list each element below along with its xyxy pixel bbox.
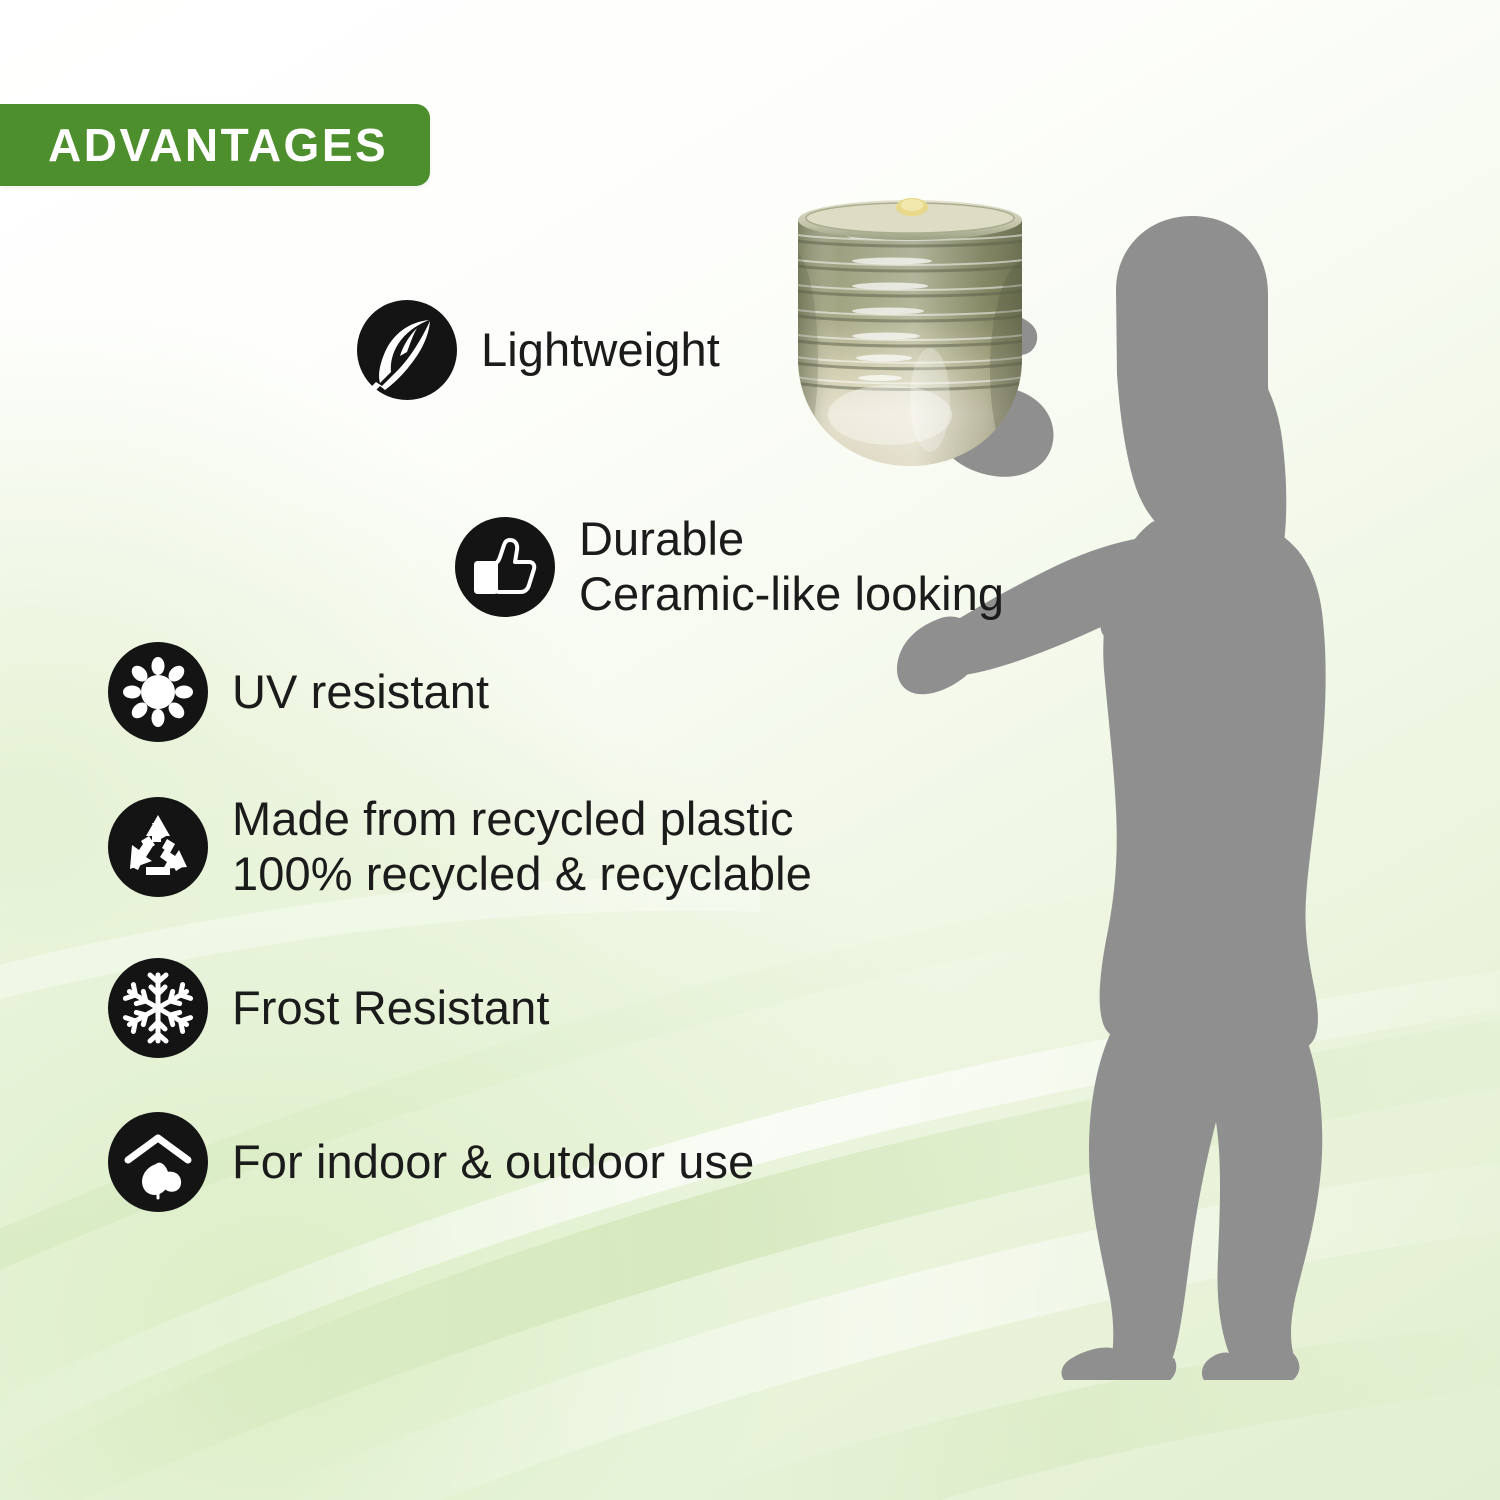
feature-label-durable: Durable Ceramic-like looking: [579, 512, 1004, 621]
feature-indoor-outdoor: For indoor & outdoor use: [108, 1112, 754, 1212]
sun-icon: [108, 642, 208, 742]
feature-recycled: Made from recycled plastic 100% recycled…: [108, 792, 812, 901]
feature-label-lightweight: Lightweight: [481, 323, 720, 378]
feature-label-frost-resistant: Frost Resistant: [232, 981, 550, 1036]
feature-durable: Durable Ceramic-like looking: [455, 512, 1004, 621]
house-leaf-icon: [108, 1112, 208, 1212]
infographic-canvas: ADVANTAGES: [0, 0, 1500, 1500]
feature-frost-resistant: Frost Resistant: [108, 958, 550, 1058]
feature-label-recycled: Made from recycled plastic 100% recycled…: [232, 792, 812, 901]
recycle-icon: [108, 797, 208, 897]
feature-label-uv-resistant: UV resistant: [232, 665, 489, 720]
feature-label-indoor-outdoor: For indoor & outdoor use: [232, 1135, 754, 1190]
feather-icon: [357, 300, 457, 400]
product-scene: [760, 150, 1500, 1380]
feature-uv-resistant: UV resistant: [108, 642, 489, 742]
snowflake-icon: [108, 958, 208, 1058]
feature-lightweight: Lightweight: [357, 300, 720, 400]
advantages-banner: ADVANTAGES: [0, 104, 430, 186]
advantages-banner-label: ADVANTAGES: [0, 122, 388, 168]
rim-gold-accent: [896, 198, 928, 216]
planter-pot-product: [780, 190, 1040, 480]
thumbs-up-icon: [455, 517, 555, 617]
